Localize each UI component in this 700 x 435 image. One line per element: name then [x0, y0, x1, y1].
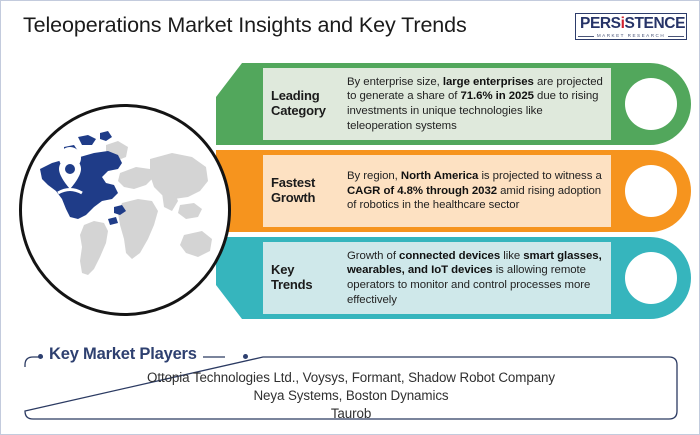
brand-logo: PERSiSTENCE MARKET RESEARCH [575, 13, 687, 40]
list-item: Neya Systems, Boston Dynamics [17, 387, 685, 405]
band-text: By region, North America is projected to… [347, 169, 605, 213]
list-item: Taurob [17, 405, 685, 423]
band-label: Leading Category [271, 89, 347, 118]
band-hole-circle [625, 252, 677, 304]
band-label-line1: Leading [271, 89, 347, 104]
band-taper [216, 63, 242, 97]
band-hole-circle [625, 78, 677, 130]
band-text: Growth of connected devices like smart g… [347, 249, 605, 308]
band-hole-circle [625, 165, 677, 217]
band-label-line1: Key [271, 263, 347, 278]
band-label-line2: Trends [271, 278, 347, 293]
band-taper [216, 285, 242, 319]
band-label-line2: Growth [271, 191, 347, 206]
logo-subtitle: MARKET RESEARCH [580, 34, 682, 39]
band-label-line2: Category [271, 104, 347, 119]
logo-box: PERSiSTENCE MARKET RESEARCH [575, 13, 687, 40]
band-card: Fastest Growth By region, North America … [263, 155, 611, 227]
players-bullet-right-icon [243, 354, 248, 359]
players-title: Key Market Players [43, 345, 203, 364]
band-card: Key Trends Growth of connected devices l… [263, 242, 611, 314]
band-text: By enterprise size, large enterprises ar… [347, 75, 605, 134]
logo-word-part2: STENCE [625, 15, 685, 32]
band-label: Key Trends [271, 263, 347, 292]
band-key-trends: Key Trends Growth of connected devices l… [216, 237, 691, 319]
band-label-line1: Fastest [271, 176, 347, 191]
world-map-svg [22, 107, 228, 313]
list-item: Ottopia Technologies Ltd., Voysys, Forma… [17, 369, 685, 387]
players-bullet-left-icon [38, 354, 43, 359]
world-map-circle [19, 104, 231, 316]
infographic-canvas: Teleoperations Market Insights and Key T… [0, 0, 700, 435]
page-title: Teleoperations Market Insights and Key T… [23, 13, 467, 38]
logo-wordmark: PERSiSTENCE [580, 16, 682, 32]
band-fastest-growth: Fastest Growth By region, North America … [216, 150, 691, 232]
band-leading-category: Leading Category By enterprise size, lar… [216, 63, 691, 145]
band-card: Leading Category By enterprise size, lar… [263, 68, 611, 140]
header: Teleoperations Market Insights and Key T… [1, 1, 700, 56]
key-market-players-section: Key Market Players Ottopia Technologies … [17, 345, 685, 423]
band-label: Fastest Growth [271, 176, 347, 205]
players-list: Ottopia Technologies Ltd., Voysys, Forma… [17, 369, 685, 422]
logo-word-part1: PERS [580, 15, 621, 32]
